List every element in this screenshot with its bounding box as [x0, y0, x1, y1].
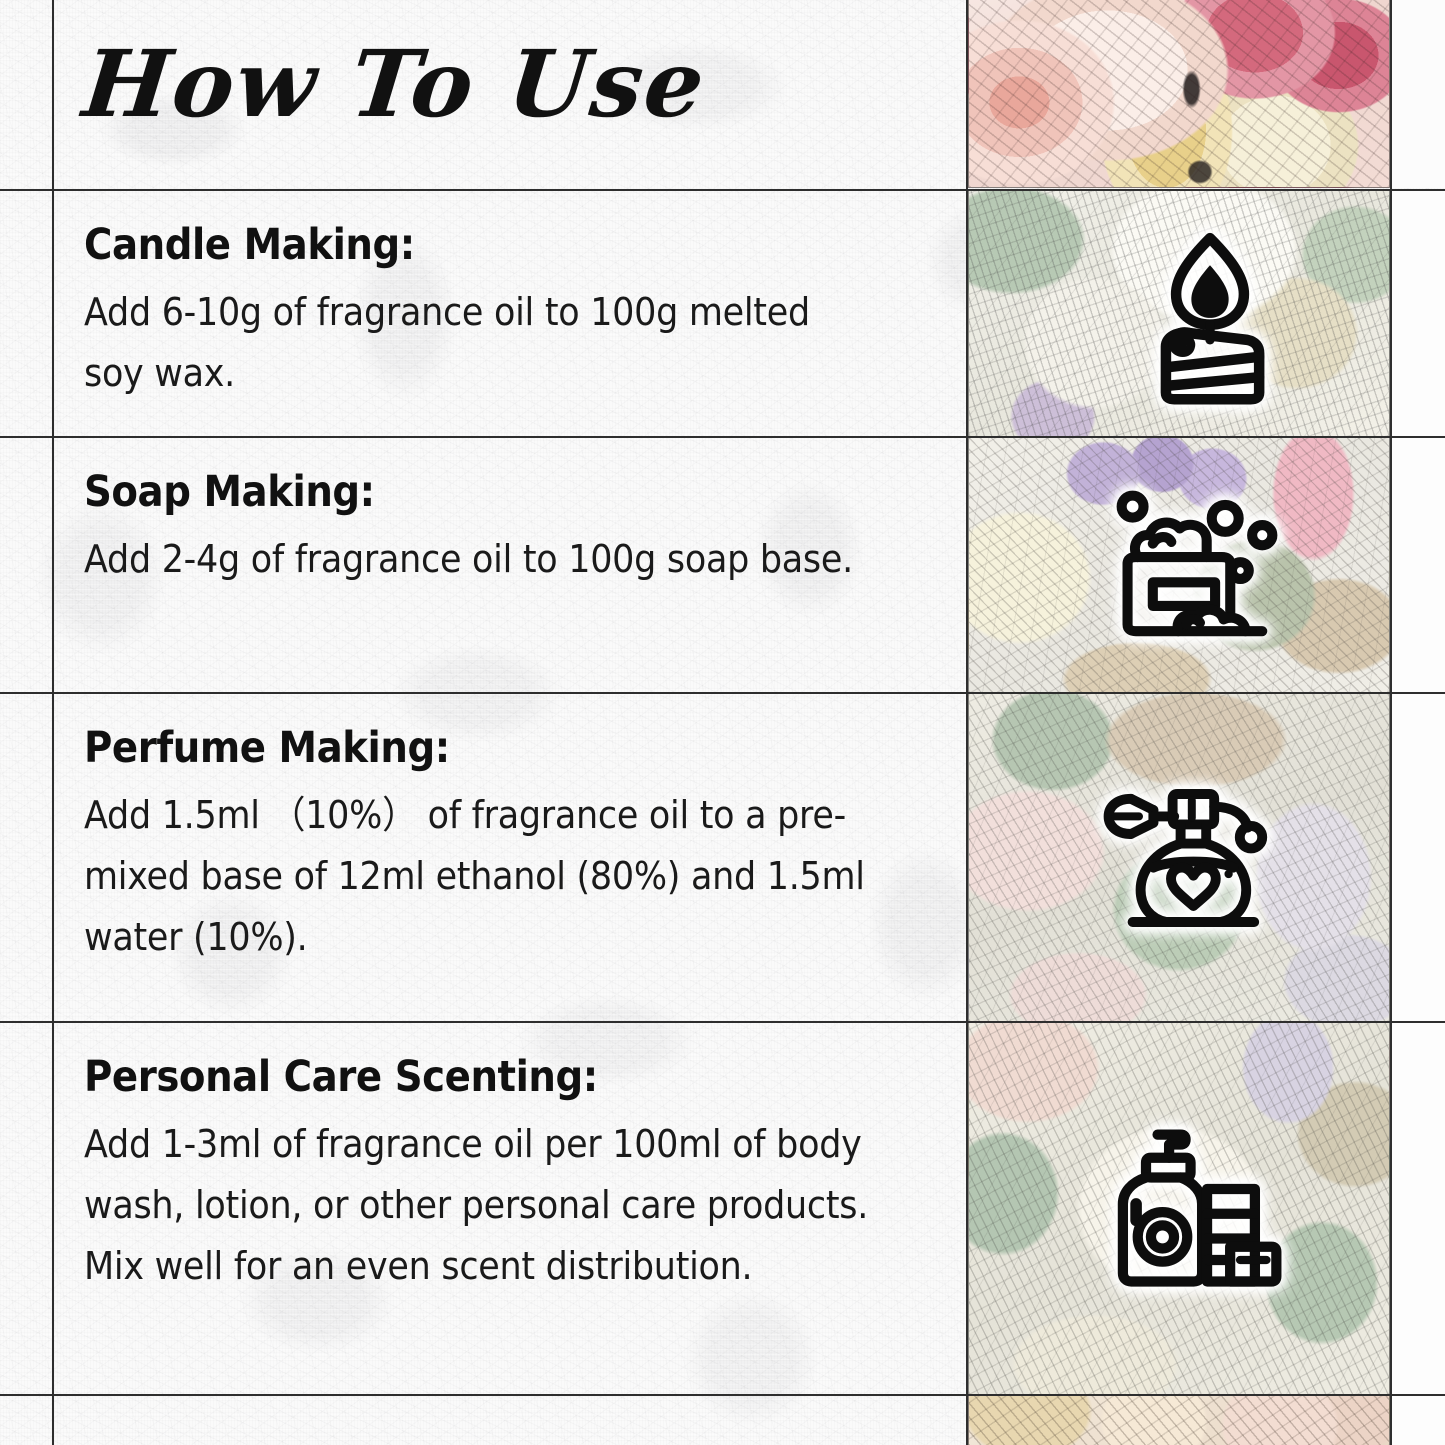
candle-icon — [1125, 228, 1295, 406]
rule-below-perfume — [0, 1021, 1445, 1023]
perfume-making-body: Add 1.5ml （10%） of fragrance oil to a pr… — [84, 785, 876, 967]
perfume-making-text-block: Perfume Making: Add 1.5ml （10%） of fragr… — [84, 725, 945, 968]
bottom-right-strip — [1390, 1395, 1445, 1445]
rule-text-art-divider — [966, 0, 968, 1445]
personal-care-products-icon — [1108, 1128, 1283, 1293]
perfume-atomizer-icon — [1100, 778, 1290, 938]
soap-making-body: Add 2-4g of fragrance oil to 100g soap b… — [84, 529, 876, 590]
header-art-panel — [968, 0, 1390, 188]
soap-making-heading: Soap Making: — [84, 469, 859, 515]
personal-care-body: Add 1-3ml of fragrance oil per 100ml of … — [84, 1114, 876, 1296]
rule-below-candle — [0, 436, 1445, 438]
personal-care-text-block: Personal Care Scenting: Add 1-3ml of fra… — [84, 1054, 945, 1297]
candle-making-heading: Candle Making: — [84, 222, 859, 268]
rule-below-soap — [0, 692, 1445, 694]
page-title: How To Use — [79, 36, 711, 133]
soap-making-text-block: Soap Making: Add 2-4g of fragrance oil t… — [84, 469, 945, 590]
header-right-strip — [1390, 0, 1445, 188]
candle-making-body: Add 6-10g of fragrance oil to 100g melte… — [84, 282, 876, 404]
personal-care-heading: Personal Care Scenting: — [84, 1054, 859, 1100]
bottom-art-panel — [968, 1395, 1390, 1445]
soap-right-strip — [1390, 437, 1445, 693]
perfume-making-heading: Perfume Making: — [84, 725, 859, 771]
perfume-right-strip — [1390, 693, 1445, 1022]
rule-below-header — [0, 189, 1445, 191]
how-to-use-infographic: How To Use Candle Making: Add 6-10g of f… — [0, 0, 1445, 1445]
personal-care-right-strip — [1390, 1022, 1445, 1395]
candle-right-strip — [1390, 190, 1445, 437]
rule-art-right-edge — [1390, 0, 1392, 1445]
rule-left-margin — [52, 0, 54, 1445]
rule-below-personal-care — [0, 1394, 1445, 1396]
candle-making-text-block: Candle Making: Add 6-10g of fragrance oi… — [84, 222, 945, 404]
soap-bar-bubbles-icon — [1110, 483, 1300, 648]
